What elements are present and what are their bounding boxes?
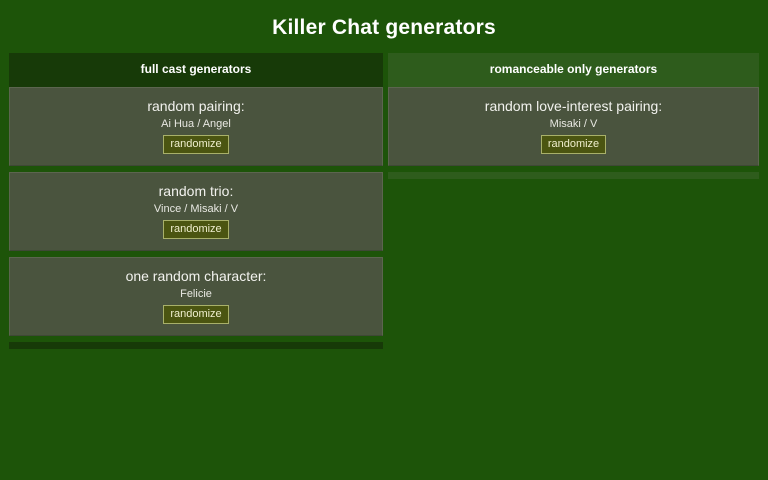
column-romanceable-only: romanceable only generators random love-… (385, 53, 768, 179)
generator-card: random pairing: Ai Hua / Angel randomize (9, 87, 383, 166)
generator-card: one random character: Felicie randomize (9, 257, 383, 336)
generator-title: random pairing: (16, 98, 376, 115)
generator-result: Felicie (16, 287, 376, 301)
randomize-button[interactable]: randomize (163, 305, 228, 324)
generator-title: one random character: (16, 268, 376, 285)
generator-title: random trio: (16, 183, 376, 200)
generator-result: Vince / Misaki / V (16, 202, 376, 216)
generator-list-full-cast: random pairing: Ai Hua / Angel randomize… (9, 87, 383, 336)
generator-title: random love-interest pairing: (395, 98, 752, 115)
column-header-full-cast: full cast generators (9, 53, 383, 87)
generator-card: random trio: Vince / Misaki / V randomiz… (9, 172, 383, 251)
randomize-button[interactable]: randomize (163, 220, 228, 239)
column-header-romanceable-only: romanceable only generators (388, 53, 759, 87)
generator-columns: full cast generators random pairing: Ai … (0, 53, 768, 349)
generator-result: Ai Hua / Angel (16, 117, 376, 131)
column-footer-full-cast (9, 342, 383, 349)
column-footer-romanceable-only (388, 172, 759, 179)
column-full-cast: full cast generators random pairing: Ai … (0, 53, 385, 349)
generator-card: random love-interest pairing: Misaki / V… (388, 87, 759, 166)
randomize-button[interactable]: randomize (541, 135, 606, 154)
randomize-button[interactable]: randomize (163, 135, 228, 154)
page-title: Killer Chat generators (0, 0, 768, 53)
generator-result: Misaki / V (395, 117, 752, 131)
generator-list-romanceable-only: random love-interest pairing: Misaki / V… (388, 87, 759, 166)
